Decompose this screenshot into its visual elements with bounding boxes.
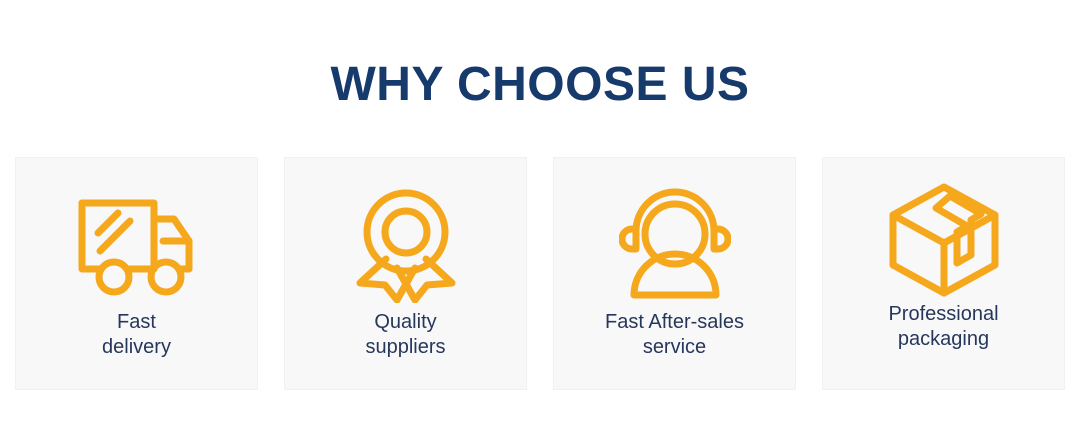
feature-card-label-line1: Quality xyxy=(285,310,526,335)
feature-card-after-sales-service[interactable]: Fast After-sales service xyxy=(553,157,796,390)
feature-card-label-line2: packaging xyxy=(823,327,1064,352)
feature-card-label-line1: Professional xyxy=(823,302,1064,327)
page-title: WHY CHOOSE US xyxy=(0,56,1080,114)
why-choose-us-section: WHY CHOOSE US Fast delivery xyxy=(0,0,1080,439)
feature-card-label: Professional packaging xyxy=(823,302,1064,352)
feature-card-fast-delivery[interactable]: Fast delivery xyxy=(15,157,258,390)
package-box-icon xyxy=(883,180,1005,300)
feature-card-label-line2: service xyxy=(554,335,795,360)
feature-card-professional-packaging[interactable]: Professional packaging xyxy=(822,157,1065,390)
feature-card-label-line2: suppliers xyxy=(285,335,526,360)
feature-card-quality-suppliers[interactable]: Quality suppliers xyxy=(284,157,527,390)
feature-card-label: Quality suppliers xyxy=(285,310,526,360)
feature-card-label: Fast After-sales service xyxy=(554,310,795,360)
feature-card-label: Fast delivery xyxy=(16,310,257,360)
feature-card-label-line2: delivery xyxy=(16,335,257,360)
delivery-truck-icon xyxy=(72,184,202,304)
feature-card-list: Fast delivery Quality suppliers xyxy=(15,157,1065,390)
award-badge-icon xyxy=(346,184,466,304)
feature-card-label-line1: Fast xyxy=(16,310,257,335)
feature-card-label-line1: Fast After-sales xyxy=(554,310,795,335)
headset-support-icon xyxy=(619,184,731,304)
